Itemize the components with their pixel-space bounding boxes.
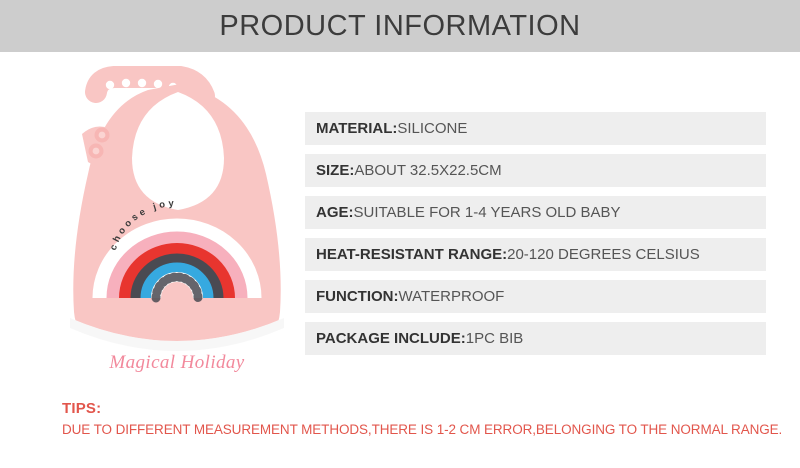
spec-row-size: SIZE: ABOUT 32.5X22.5CM: [305, 154, 766, 187]
spec-value-heat-resistant-range: 20-120 DEGREES CELSIUS: [507, 246, 700, 263]
spec-label-age: AGE:: [316, 204, 354, 221]
page-header: PRODUCT INFORMATION: [0, 0, 800, 52]
spec-row-heat-resistant-range: HEAT-RESISTANT RANGE: 20-120 DEGREES CEL…: [305, 238, 766, 271]
tips-text: DUE TO DIFFERENT MEASUREMENT METHODS,THE…: [62, 422, 762, 437]
spec-value-age: SUITABLE FOR 1-4 YEARS OLD BABY: [354, 204, 621, 221]
spec-label-package-include: PACKAGE INCLUDE:: [316, 330, 466, 347]
spec-row-function: FUNCTION: WATERPROOF: [305, 280, 766, 313]
spec-value-material: SILICONE: [397, 120, 467, 137]
bib-body-icon: [73, 84, 280, 342]
tips-heading: TIPS:: [62, 400, 762, 417]
page-title: PRODUCT INFORMATION: [219, 10, 580, 43]
product-image-bib: choose joy Magical Holiday: [52, 62, 302, 392]
spec-row-package-include: PACKAGE INCLUDE: 1PC BIB: [305, 322, 766, 355]
spec-row-age: AGE: SUITABLE FOR 1-4 YEARS OLD BABY: [305, 196, 766, 229]
spec-value-size: ABOUT 32.5X22.5CM: [354, 162, 501, 179]
spec-label-material: MATERIAL:: [316, 120, 397, 137]
spec-label-function: FUNCTION:: [316, 288, 399, 305]
tips-section: TIPS: DUE TO DIFFERENT MEASUREMENT METHO…: [62, 400, 762, 437]
spec-label-heat-resistant-range: HEAT-RESISTANT RANGE:: [316, 246, 507, 263]
spec-value-package-include: 1PC BIB: [466, 330, 524, 347]
spec-label-size: SIZE:: [316, 162, 354, 179]
spec-value-function: WATERPROOF: [399, 288, 505, 305]
spec-row-material: MATERIAL: SILICONE: [305, 112, 766, 145]
product-spec-list: MATERIAL: SILICONE SIZE: ABOUT 32.5X22.5…: [305, 112, 766, 364]
pocket-script-text: Magical Holiday: [108, 352, 244, 373]
